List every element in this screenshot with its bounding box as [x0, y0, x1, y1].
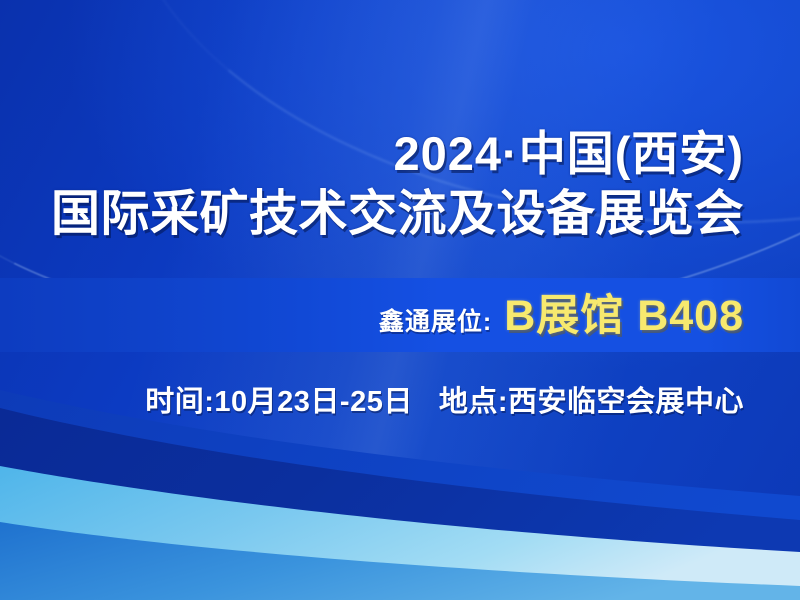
- event-date: 时间:10月23日-25日: [145, 378, 413, 420]
- booth-number: B展馆 B408: [504, 281, 744, 343]
- poster-title-line-1: 2024·中国(西安): [393, 126, 744, 182]
- event-meta-row: 时间:10月23日-25日 地点:西安临空会展中心: [145, 378, 744, 420]
- booth-info-row: 鑫通展位: B展馆 B408: [379, 281, 744, 343]
- poster-title-line-2: 国际采矿技术交流及设备展览会: [51, 184, 744, 244]
- exhibition-poster: 2024·中国(西安) 国际采矿技术交流及设备展览会 鑫通展位: B展馆 B40…: [0, 0, 800, 600]
- booth-label: 鑫通展位:: [379, 302, 492, 338]
- event-venue: 地点:西安临空会展中心: [439, 378, 744, 420]
- poster-content: 2024·中国(西安) 国际采矿技术交流及设备展览会 鑫通展位: B展馆 B40…: [0, 0, 800, 600]
